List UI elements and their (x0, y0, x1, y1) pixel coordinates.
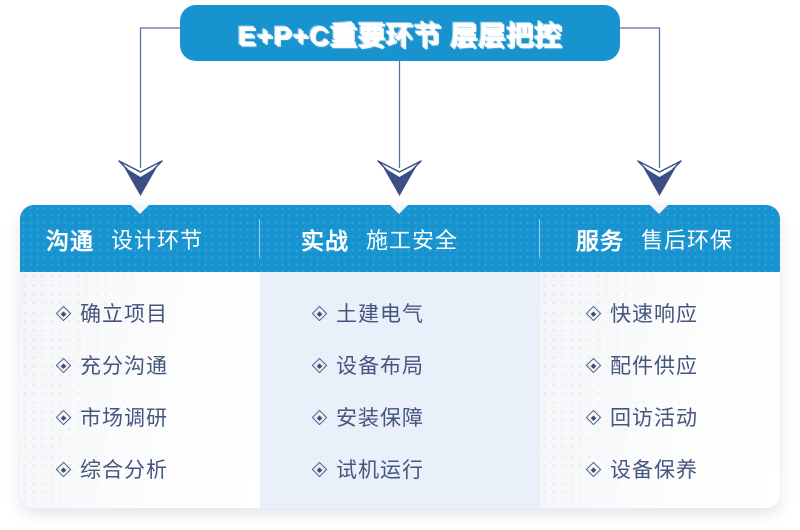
item-label: 回访活动 (610, 402, 698, 432)
diamond-bullet-icon (586, 305, 602, 321)
list-item[interactable]: 回访活动 (588, 391, 780, 443)
item-label: 土建电气 (336, 298, 424, 328)
list-item[interactable]: 确立项目 (58, 287, 260, 339)
column-heading-1: 设计环节 (111, 223, 203, 255)
item-list-1: 确立项目 充分沟通 市场调研 综合分析 (58, 287, 260, 495)
diamond-bullet-icon (56, 305, 72, 321)
diamond-bullet-icon (56, 409, 72, 425)
arrow-down-left (119, 161, 162, 196)
item-label: 确立项目 (80, 298, 168, 328)
page-title: E+P+C重要环节 层层把控 (238, 14, 563, 53)
column-body-2: 土建电气 设备布局 安装保障 试机运行 (260, 272, 540, 508)
header-notch-2 (390, 205, 408, 214)
column-body-3: 快速响应 配件供应 回访活动 设备保养 (540, 272, 780, 508)
diamond-bullet-icon (312, 409, 328, 425)
header-notch-3 (650, 205, 668, 214)
infographic-stage: E+P+C重要环节 层层把控 沟通 设计环节 实战 施工安全 服务 售后环保 (0, 0, 800, 530)
diamond-bullet-icon (312, 357, 328, 373)
diamond-bullet-icon (586, 461, 602, 477)
diamond-bullet-icon (312, 461, 328, 477)
list-item[interactable]: 安装保障 (314, 391, 540, 443)
arrow-down-right (638, 161, 681, 196)
list-item[interactable]: 快速响应 (588, 287, 780, 339)
list-item[interactable]: 综合分析 (58, 443, 260, 495)
list-item[interactable]: 市场调研 (58, 391, 260, 443)
list-item[interactable]: 试机运行 (314, 443, 540, 495)
list-item[interactable]: 配件供应 (588, 339, 780, 391)
card-body: 确立项目 充分沟通 市场调研 综合分析 (20, 272, 780, 508)
column-tag-2: 实战 (301, 222, 349, 256)
list-item[interactable]: 充分沟通 (58, 339, 260, 391)
diamond-bullet-icon (586, 409, 602, 425)
list-item[interactable]: 土建电气 (314, 287, 540, 339)
column-header-3[interactable]: 服务 售后环保 (540, 205, 780, 272)
card-header-strip: 沟通 设计环节 实战 施工安全 服务 售后环保 (20, 205, 780, 272)
column-body-1: 确立项目 充分沟通 市场调研 综合分析 (20, 272, 260, 508)
list-item[interactable]: 设备布局 (314, 339, 540, 391)
column-heading-2: 施工安全 (366, 223, 458, 255)
column-header-2[interactable]: 实战 施工安全 (260, 205, 540, 272)
item-label: 市场调研 (80, 402, 168, 432)
header-notch-1 (131, 205, 149, 214)
item-label: 设备布局 (336, 350, 424, 380)
item-label: 综合分析 (80, 454, 168, 484)
main-title-banner: E+P+C重要环节 层层把控 (180, 5, 620, 61)
item-label: 快速响应 (610, 298, 698, 328)
column-tag-3: 服务 (576, 222, 624, 256)
item-label: 充分沟通 (80, 350, 168, 380)
diamond-bullet-icon (56, 357, 72, 373)
item-list-3: 快速响应 配件供应 回访活动 设备保养 (588, 287, 780, 495)
item-label: 安装保障 (336, 402, 424, 432)
column-heading-3: 售后环保 (641, 223, 733, 255)
item-label: 设备保养 (610, 454, 698, 484)
diamond-bullet-icon (312, 305, 328, 321)
three-column-card: 沟通 设计环节 实战 施工安全 服务 售后环保 (20, 205, 780, 508)
item-label: 配件供应 (610, 350, 698, 380)
column-header-1[interactable]: 沟通 设计环节 (20, 205, 260, 272)
item-label: 试机运行 (336, 454, 424, 484)
item-list-2: 土建电气 设备布局 安装保障 试机运行 (314, 287, 540, 495)
arrow-down-center (378, 161, 421, 196)
column-tag-1: 沟通 (46, 222, 94, 256)
diamond-bullet-icon (56, 461, 72, 477)
diamond-bullet-icon (586, 357, 602, 373)
list-item[interactable]: 设备保养 (588, 443, 780, 495)
